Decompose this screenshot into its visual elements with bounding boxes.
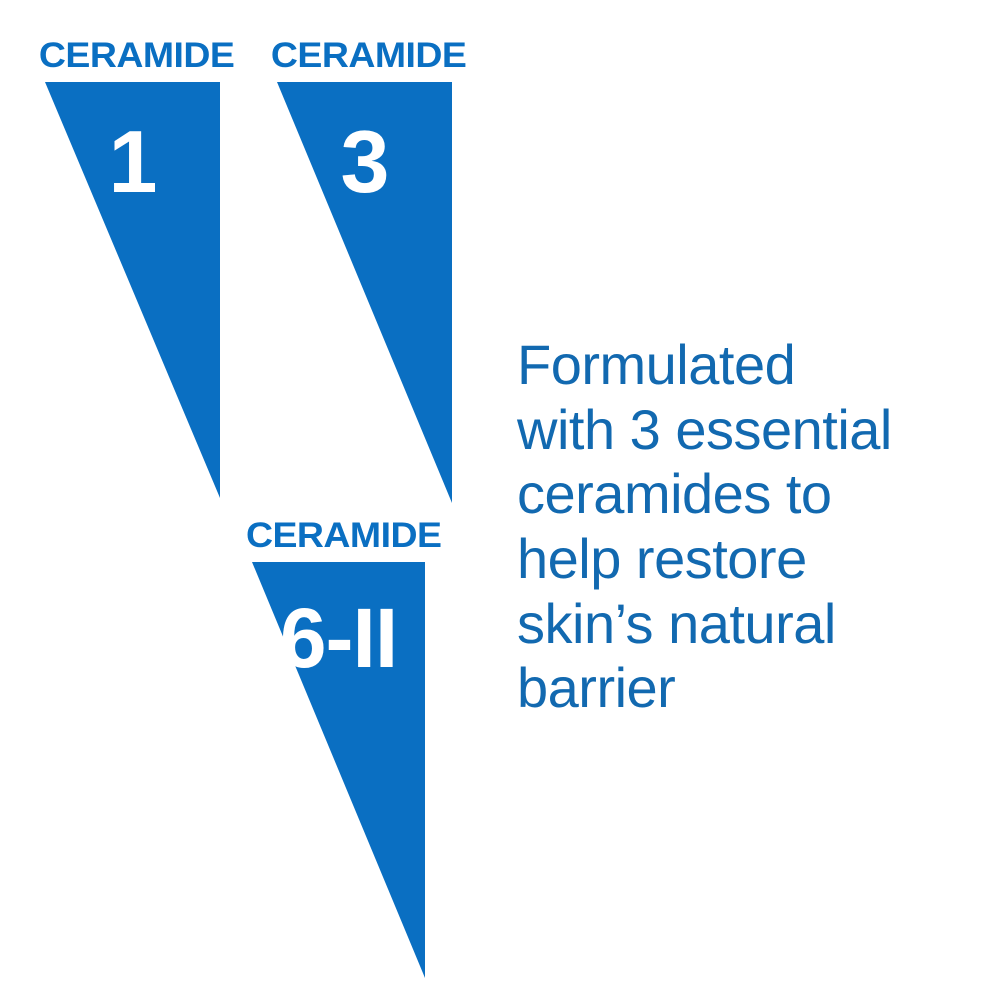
infographic-canvas: CERAMIDE 1 CERAMIDE 3 CERAMIDE 6-II Form… bbox=[0, 0, 1000, 1000]
ceramide-badge-2-label: CERAMIDE bbox=[271, 38, 458, 73]
ceramide-badge-2-number: 3 bbox=[277, 118, 452, 206]
claim-line-3: ceramides to bbox=[517, 462, 957, 527]
ceramide-badge-1-number: 1 bbox=[45, 118, 220, 206]
ceramide-badge-2: CERAMIDE 3 bbox=[277, 38, 452, 503]
ceramide-badge-3-number: 6-II bbox=[252, 596, 425, 680]
ceramide-badge-1-label: CERAMIDE bbox=[39, 38, 226, 73]
claim-line-6: barrier bbox=[517, 656, 957, 721]
claim-text-block: Formulated with 3 essential ceramides to… bbox=[517, 333, 957, 721]
claim-line-5: skin’s natural bbox=[517, 592, 957, 657]
ceramide-badge-3: CERAMIDE 6-II bbox=[252, 518, 425, 978]
claim-line-1: Formulated bbox=[517, 333, 957, 398]
claim-line-4: help restore bbox=[517, 527, 957, 592]
ceramide-badge-3-label: CERAMIDE bbox=[246, 518, 431, 553]
claim-line-2: with 3 essential bbox=[517, 398, 957, 463]
ceramide-badge-1: CERAMIDE 1 bbox=[45, 38, 220, 498]
